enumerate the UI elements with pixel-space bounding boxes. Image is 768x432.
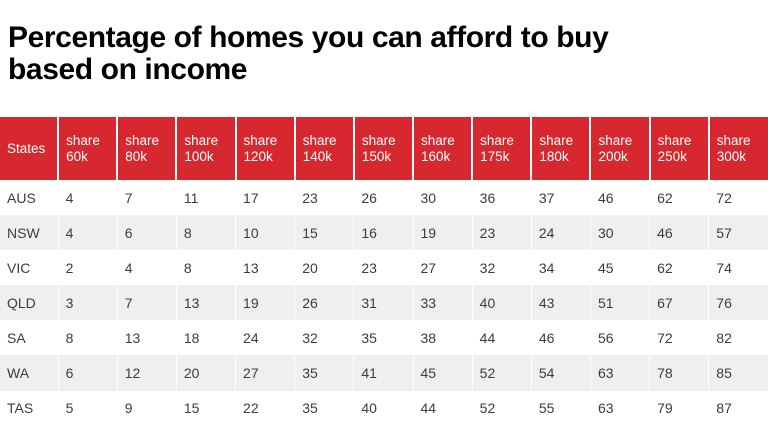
column-header-share-100k: share 100k [176,117,235,180]
value-cell: 9 [117,391,176,426]
column-header-share-150k: share 150k [354,117,413,180]
value-cell: 72 [709,180,768,215]
value-cell: 79 [650,391,709,426]
value-cell: 22 [236,391,295,426]
value-cell: 10 [236,215,295,250]
value-cell: 31 [354,285,413,320]
value-cell: 23 [472,215,531,250]
state-cell-qld: QLD [0,285,58,320]
column-header-share-175k: share 175k [472,117,531,180]
value-cell: 35 [295,391,354,426]
value-cell: 18 [176,320,235,355]
value-cell: 20 [176,355,235,390]
value-cell: 51 [590,285,649,320]
value-cell: 32 [295,320,354,355]
value-cell: 23 [354,250,413,285]
value-cell: 85 [709,355,768,390]
value-cell: 35 [295,355,354,390]
column-header-share-120k: share 120k [236,117,295,180]
column-header-share-180k: share 180k [531,117,590,180]
column-header-share-60k: share 60k [58,117,117,180]
value-cell: 40 [472,285,531,320]
value-cell: 40 [354,391,413,426]
state-cell-aus: AUS [0,180,58,215]
value-cell: 56 [590,320,649,355]
value-cell: 41 [354,355,413,390]
value-cell: 63 [590,355,649,390]
value-cell: 7 [117,180,176,215]
value-cell: 33 [413,285,472,320]
value-cell: 7 [117,285,176,320]
value-cell: 2 [58,250,117,285]
value-cell: 6 [58,355,117,390]
value-cell: 26 [354,180,413,215]
value-cell: 3 [58,285,117,320]
value-cell: 5 [58,391,117,426]
value-cell: 16 [354,215,413,250]
value-cell: 62 [650,180,709,215]
value-cell: 12 [117,355,176,390]
table-row: WA61220273541455254637885 [0,355,768,390]
value-cell: 78 [650,355,709,390]
value-cell: 27 [413,250,472,285]
value-cell: 23 [295,180,354,215]
value-cell: 24 [236,320,295,355]
column-header-share-80k: share 80k [117,117,176,180]
value-cell: 15 [295,215,354,250]
table-row: AUS4711172326303637466272 [0,180,768,215]
value-cell: 13 [117,320,176,355]
state-cell-nsw: NSW [0,215,58,250]
value-cell: 32 [472,250,531,285]
page-title: Percentage of homes you can afford to bu… [8,22,760,86]
state-cell-wa: WA [0,355,58,390]
value-cell: 44 [472,320,531,355]
value-cell: 17 [236,180,295,215]
value-cell: 67 [650,285,709,320]
value-cell: 11 [176,180,235,215]
table-header: States share 60k share 80k share 100k sh… [0,117,768,180]
value-cell: 8 [176,250,235,285]
value-cell: 24 [531,215,590,250]
value-cell: 44 [413,391,472,426]
value-cell: 35 [354,320,413,355]
value-cell: 74 [709,250,768,285]
value-cell: 20 [295,250,354,285]
value-cell: 6 [117,215,176,250]
value-cell: 46 [531,320,590,355]
table-body: AUS4711172326303637466272NSW468101516192… [0,180,768,426]
table-row: VIC248132023273234456274 [0,250,768,285]
value-cell: 19 [236,285,295,320]
column-header-share-300k: share 300k [709,117,768,180]
value-cell: 13 [236,250,295,285]
table-row: NSW468101516192324304657 [0,215,768,250]
value-cell: 19 [413,215,472,250]
value-cell: 38 [413,320,472,355]
table-row: QLD3713192631334043516776 [0,285,768,320]
value-cell: 62 [650,250,709,285]
table-row: SA81318243235384446567282 [0,320,768,355]
column-header-share-160k: share 160k [413,117,472,180]
column-header-states: States [0,117,58,180]
value-cell: 45 [413,355,472,390]
value-cell: 43 [531,285,590,320]
column-header-share-200k: share 200k [590,117,649,180]
value-cell: 30 [413,180,472,215]
infographic-table-page: Percentage of homes you can afford to bu… [0,0,768,432]
value-cell: 8 [176,215,235,250]
value-cell: 46 [590,180,649,215]
column-header-share-250k: share 250k [650,117,709,180]
value-cell: 54 [531,355,590,390]
value-cell: 52 [472,391,531,426]
state-cell-tas: TAS [0,391,58,426]
value-cell: 36 [472,180,531,215]
value-cell: 27 [236,355,295,390]
table-row: TAS5915223540445255637987 [0,391,768,426]
value-cell: 76 [709,285,768,320]
value-cell: 13 [176,285,235,320]
value-cell: 82 [709,320,768,355]
table-header-row: States share 60k share 80k share 100k sh… [0,117,768,180]
state-cell-sa: SA [0,320,58,355]
value-cell: 46 [650,215,709,250]
value-cell: 37 [531,180,590,215]
value-cell: 4 [58,180,117,215]
value-cell: 34 [531,250,590,285]
value-cell: 72 [650,320,709,355]
value-cell: 30 [590,215,649,250]
value-cell: 4 [117,250,176,285]
value-cell: 55 [531,391,590,426]
value-cell: 26 [295,285,354,320]
value-cell: 57 [709,215,768,250]
value-cell: 63 [590,391,649,426]
value-cell: 45 [590,250,649,285]
value-cell: 8 [58,320,117,355]
value-cell: 87 [709,391,768,426]
affordability-table: States share 60k share 80k share 100k sh… [0,117,768,426]
value-cell: 4 [58,215,117,250]
value-cell: 15 [176,391,235,426]
value-cell: 52 [472,355,531,390]
column-header-share-140k: share 140k [295,117,354,180]
state-cell-vic: VIC [0,250,58,285]
title-block: Percentage of homes you can afford to bu… [0,22,768,86]
